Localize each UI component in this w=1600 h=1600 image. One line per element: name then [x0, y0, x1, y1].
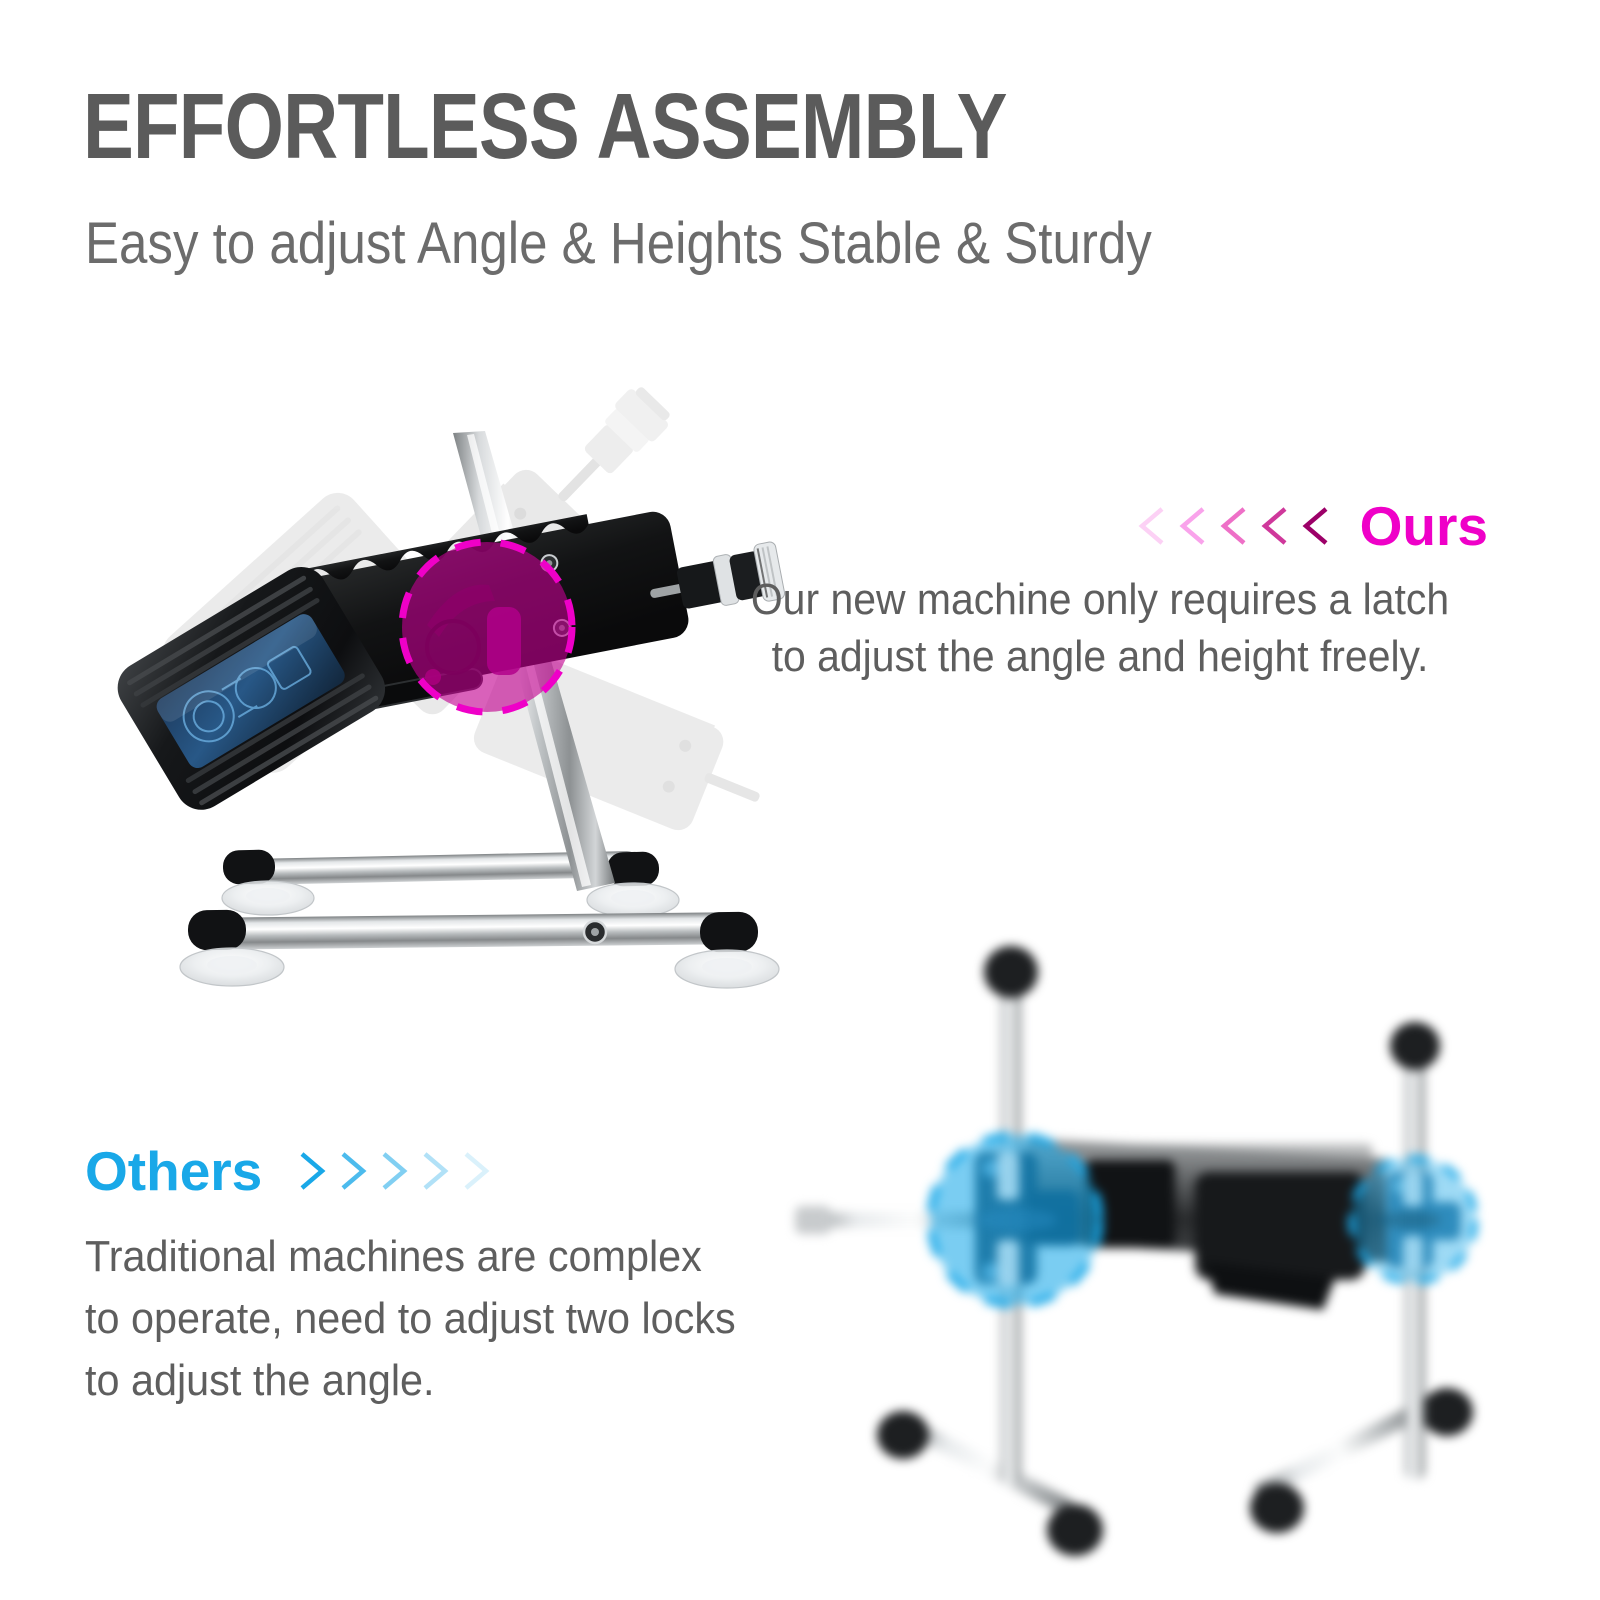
others-lock-one-highlight	[930, 1135, 1100, 1305]
ours-description-line1: Our new machine only requires a latch	[728, 571, 1472, 628]
promo-page: EFFORTLESS ASSEMBLY Easy to adjust Angle…	[0, 0, 1600, 1600]
ours-latch-highlight	[402, 542, 572, 712]
others-callout: Others Traditional machines are complex …	[85, 1138, 845, 1412]
chevron-left-icon	[1214, 501, 1254, 551]
others-label: Others	[85, 1144, 262, 1199]
ours-callout: Ours Our new machine only requires a lat…	[700, 495, 1500, 685]
others-header-row: Others	[85, 1138, 845, 1204]
chevron-left-icon	[1255, 501, 1295, 551]
chevron-left-icon	[1132, 501, 1172, 551]
chevron-left-icon	[1173, 501, 1213, 551]
page-title: EFFORTLESS ASSEMBLY	[83, 78, 1007, 174]
chevron-right-icon	[415, 1146, 455, 1196]
chevron-left-icon	[1296, 501, 1336, 551]
page-subtitle: Easy to adjust Angle & Heights Stable & …	[85, 208, 1152, 280]
base-tube-front	[180, 910, 779, 988]
chevron-right-icon	[374, 1146, 414, 1196]
others-description-line3: to adjust the angle.	[85, 1350, 799, 1412]
others-base-frame	[877, 1388, 1473, 1556]
chevron-right-icon	[456, 1146, 496, 1196]
ours-description-line2: to adjust the angle and height freely.	[728, 628, 1472, 685]
others-lock-two-highlight	[1351, 1158, 1475, 1282]
ours-header-row: Ours	[700, 495, 1500, 557]
chevron-right-icon	[292, 1146, 332, 1196]
others-description-line1: Traditional machines are complex	[85, 1226, 799, 1288]
ours-product-image	[55, 295, 785, 1025]
others-description-line2: to operate, need to adjust two locks	[85, 1288, 799, 1350]
ours-label: Ours	[1360, 499, 1500, 554]
others-product-image	[775, 890, 1575, 1590]
others-chevrons	[292, 1146, 496, 1196]
chevron-right-icon	[333, 1146, 373, 1196]
ours-chevrons	[1132, 501, 1336, 551]
